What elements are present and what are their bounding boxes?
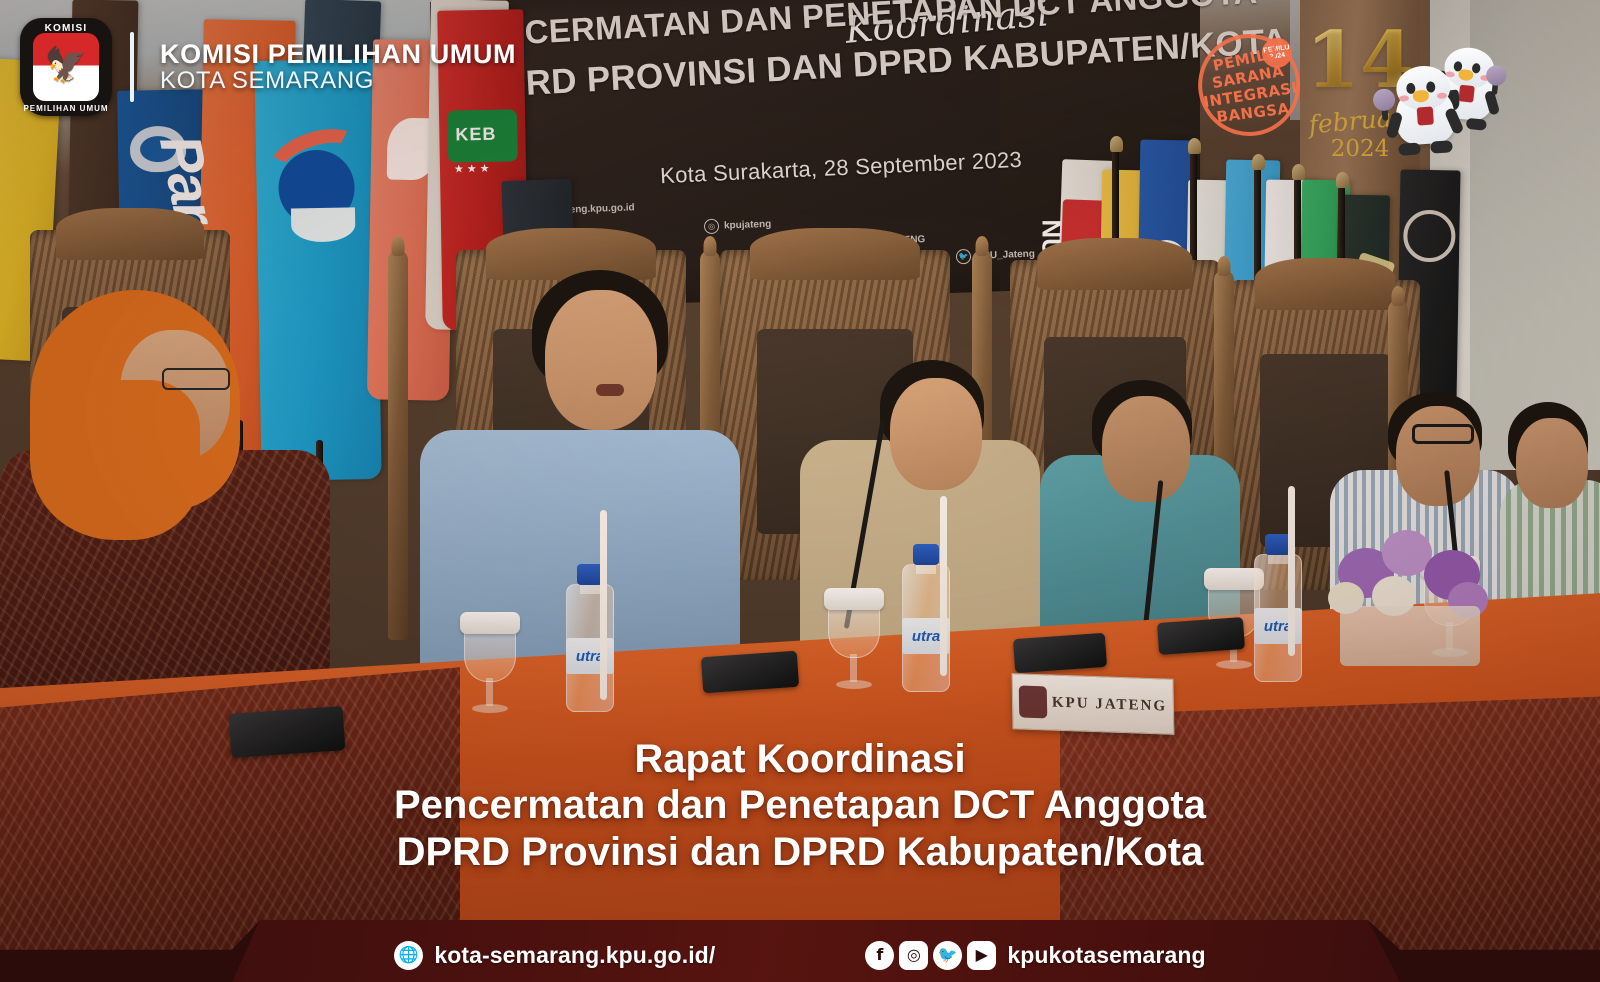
globe-icon: 🌐 [394,941,423,970]
header-divider [130,32,134,102]
poster-title: Rapat Koordinasi Pencermatan dan Penetap… [0,736,1600,875]
logo-top-text: KOMISI [20,23,112,34]
footer-website-group[interactable]: 🌐 kota-semarang.kpu.go.id/ [394,941,715,970]
footer-website-label: kota-semarang.kpu.go.id/ [434,942,715,969]
youtube-icon[interactable]: ▶ [967,941,996,970]
footer-social-group[interactable]: f ◎ 🐦 ▶ kpukotasemarang [865,941,1205,970]
footer-social-handle: kpukotasemarang [1007,942,1205,969]
title-line-1: Rapat Koordinasi [0,736,1600,782]
sura-sulu-mascot [1388,46,1518,156]
twitter-icon[interactable]: 🐦 [933,941,962,970]
title-line-2: Pencermatan dan Penetapan DCT Anggota [0,782,1600,828]
pemilu-slogan-stamp: PEMILU 2024 PEMILU SARANA INTEGRASI BANG… [1189,21,1310,147]
garuda-emblem-icon: 🦅 [45,48,87,82]
footer-bar: 🌐 kota-semarang.kpu.go.id/ f ◎ 🐦 ▶ kpuko… [0,920,1600,982]
brand-header: 🦅 KOMISI PEMILIHAN UMUM KOMISI PEMILIHAN… [20,18,516,116]
mascot-front [1387,64,1463,161]
logo-bottom-text: PEMILIHAN UMUM [20,104,112,113]
instagram-icon[interactable]: ◎ [899,941,928,970]
facebook-icon[interactable]: f [865,941,894,970]
title-line-3: DPRD Provinsi dan DPRD Kabupaten/Kota [0,829,1600,875]
organization-city: KOTA SEMARANG [160,68,516,94]
poster-canvas: Koordinasi NCERMATAN DAN PENETAPAN DCT A… [0,0,1600,982]
kpu-logo: 🦅 KOMISI PEMILIHAN UMUM [20,18,112,116]
organization-name: KOMISI PEMILIHAN UMUM [160,40,516,68]
